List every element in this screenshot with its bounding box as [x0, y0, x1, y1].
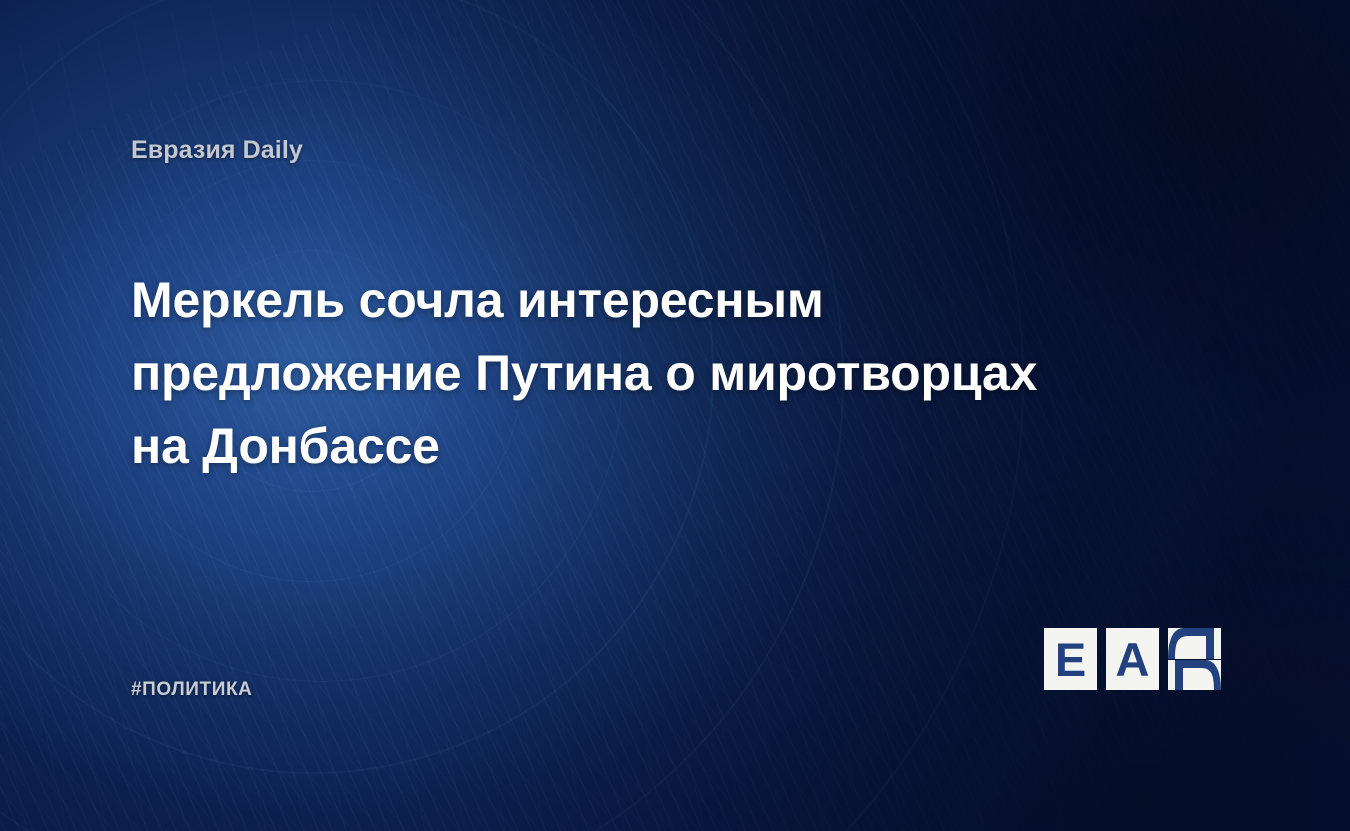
headline-line-1: Меркель сочла интересным	[131, 264, 1161, 337]
brand-label: Евразия Daily	[131, 136, 303, 165]
page-title: Меркель сочла интересным предложение Пут…	[131, 264, 1161, 483]
logo-letter-d-bottom	[1168, 660, 1221, 691]
eadaily-logo[interactable]: E A	[1044, 628, 1222, 690]
logo-tile-a: A	[1106, 628, 1159, 690]
category-hashtag[interactable]: #ПОЛИТИКА	[131, 679, 253, 701]
headline-line-3: на Донбассе	[131, 410, 1161, 483]
news-share-card: Евразия Daily Меркель сочла интересным п…	[0, 0, 1350, 831]
logo-letter-d-top	[1168, 628, 1221, 659]
logo-tile-stacked-d	[1168, 628, 1221, 690]
card-content: Евразия Daily Меркель сочла интересным п…	[0, 0, 1350, 831]
logo-letter-a: A	[1116, 636, 1150, 683]
logo-tile-e: E	[1044, 628, 1097, 690]
headline-line-2: предложение Путина о миротворцах	[131, 337, 1161, 410]
logo-letter-e: E	[1055, 636, 1086, 683]
